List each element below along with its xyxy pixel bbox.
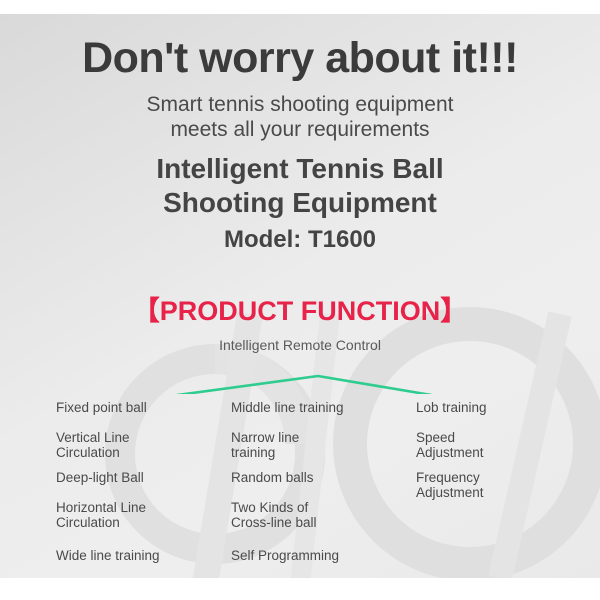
feature-item: Random balls [231,470,314,485]
feature-item: Fixed point ball [56,400,147,415]
feature-item: Middle line training [231,400,344,415]
product-name-line-2: Shooting Equipment [0,186,600,220]
feature-item: Wide line training [56,548,160,563]
feature-item: Lob training [416,400,487,415]
product-name: Intelligent Tennis Ball Shooting Equipme… [0,152,600,220]
feature-column-3: Lob training Speed Adjustment Frequency … [416,388,544,578]
subtitle-line-1: Smart tennis shooting equipment [0,92,600,117]
page-subtitle: Smart tennis shooting equipment meets al… [0,92,600,142]
feature-item: Vertical Line Circulation [56,430,130,460]
page-headline: Don't worry about it!!! [0,36,600,81]
feature-item: Deep-light Ball [56,470,144,485]
feature-item: Self Programming [231,548,339,563]
feature-item: Speed Adjustment [416,430,484,460]
feature-column-1: Fixed point ball Vertical Line Circulati… [56,388,231,578]
product-function-heading: 【PRODUCT FUNCTION】 [0,289,600,328]
feature-item: Horizontal Line Circulation [56,500,146,530]
feature-columns: Fixed point ball Vertical Line Circulati… [0,388,600,578]
feature-column-2: Middle line training Narrow line trainin… [231,388,416,578]
remote-control-label: Intelligent Remote Control [0,337,600,353]
product-model: Model: T1600 [0,226,600,254]
feature-item: Two Kinds of Cross-line ball [231,500,317,530]
subtitle-line-2: meets all your requirements [0,117,600,142]
feature-item: Frequency Adjustment [416,470,484,500]
product-banner: Don't worry about it!!! Smart tennis sho… [0,14,600,578]
feature-item: Narrow line training [231,430,299,460]
product-name-line-1: Intelligent Tennis Ball [0,152,600,186]
